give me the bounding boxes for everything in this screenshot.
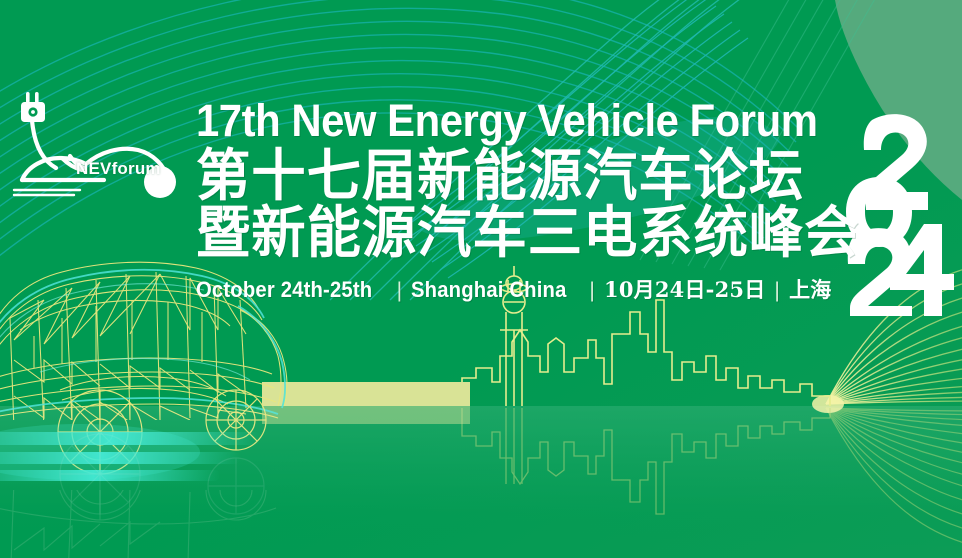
meta-separator-2: | <box>580 279 604 303</box>
meta-separator-1: | <box>388 279 412 303</box>
meta-location-english: Shanghai China <box>411 277 567 303</box>
title-block: 17th New Energy Vehicle Forum 第十七届新能源汽车论… <box>196 98 856 304</box>
meta-date-english: October 24th-25th <box>196 277 372 303</box>
meta-date-chinese: 10月24日-25日 <box>604 274 765 304</box>
logo-wordmark-light: forum <box>112 159 161 178</box>
title-chinese-line2: 暨新能源汽车三电系统峰会 <box>196 204 836 263</box>
event-meta-line: October 24th-25th | Shanghai China | 10月… <box>196 274 856 304</box>
nevforum-logo-icon <box>8 78 188 210</box>
event-banner: NEVforum 17th New Energy Vehicle Forum 第… <box>0 0 962 558</box>
title-chinese-line1: 第十七届新能源汽车论坛 <box>196 147 836 206</box>
logo-wordmark: NEVforum <box>76 160 161 177</box>
nevforum-logo[interactable]: NEVforum <box>8 78 188 210</box>
meta-separator-3: | <box>765 279 789 303</box>
meta-location-chinese: 上海 <box>789 274 831 304</box>
title-english: 17th New Energy Vehicle Forum <box>196 98 810 143</box>
logo-wordmark-bold: NEV <box>76 159 112 178</box>
